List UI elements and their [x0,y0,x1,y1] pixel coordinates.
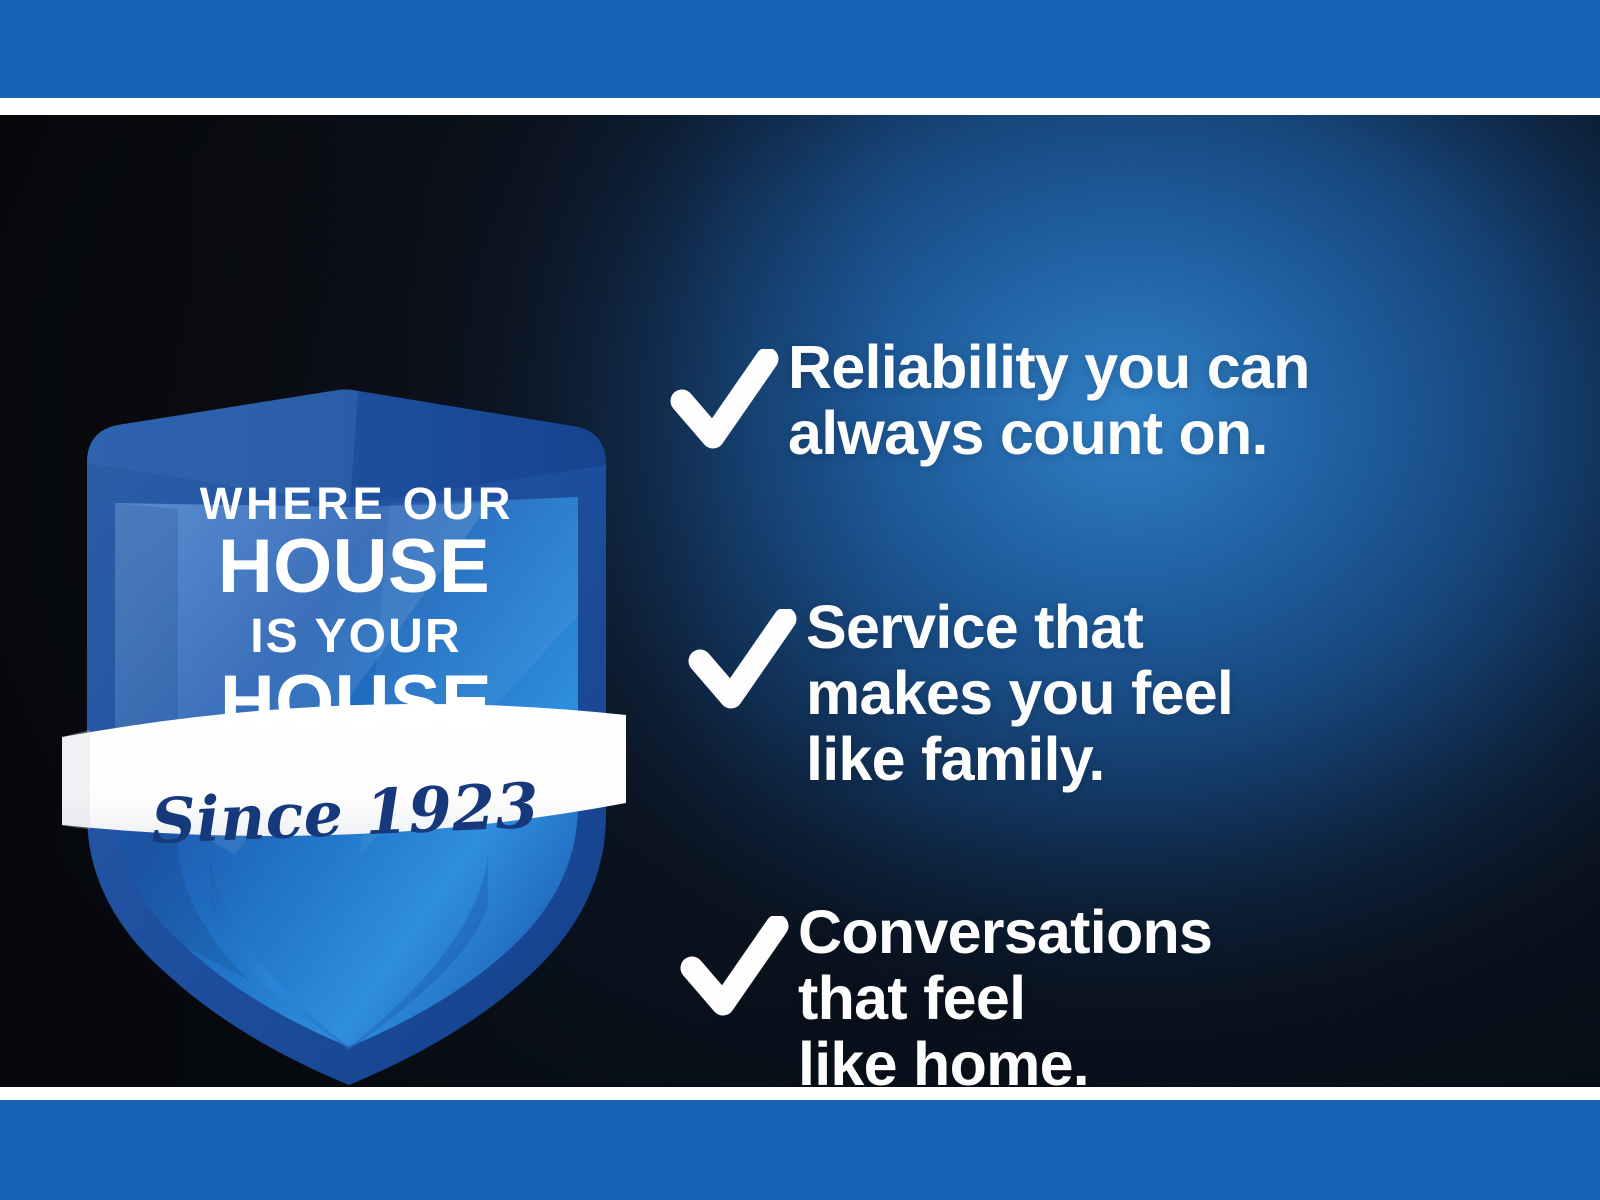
checklist-item-conversations: Conversations that feel like home. [678,900,1212,1087]
top-white-divider [0,98,1600,115]
checklist-item-reliability: Reliability you can always count on. [668,335,1310,467]
bottom-brand-band [0,1100,1600,1200]
badge-line-2: House [78,529,630,605]
badge-line-1: Where Our [84,481,630,526]
main-content-area: Where Our House Is Your House Since 1923… [0,115,1600,1087]
check-icon [678,900,798,1026]
check-icon [686,595,806,719]
badge-line-4: House [82,665,630,741]
check-icon [668,335,788,459]
checklist-text: Reliability you can always count on. [788,335,1310,467]
checklist-item-service: Service that makes you feel like family. [686,595,1233,793]
checklist-text: Service that makes you feel like family. [806,595,1233,793]
checklist-text: Conversations that feel like home. [798,900,1212,1087]
top-brand-band [0,0,1600,98]
badge-line-3: Is Your [82,613,630,661]
bottom-white-divider [0,1087,1600,1100]
graphic-canvas: Where Our House Is Your House Since 1923… [0,0,1600,1200]
company-shield-badge: Where Our House Is Your House Since 1923 [60,385,630,1065]
